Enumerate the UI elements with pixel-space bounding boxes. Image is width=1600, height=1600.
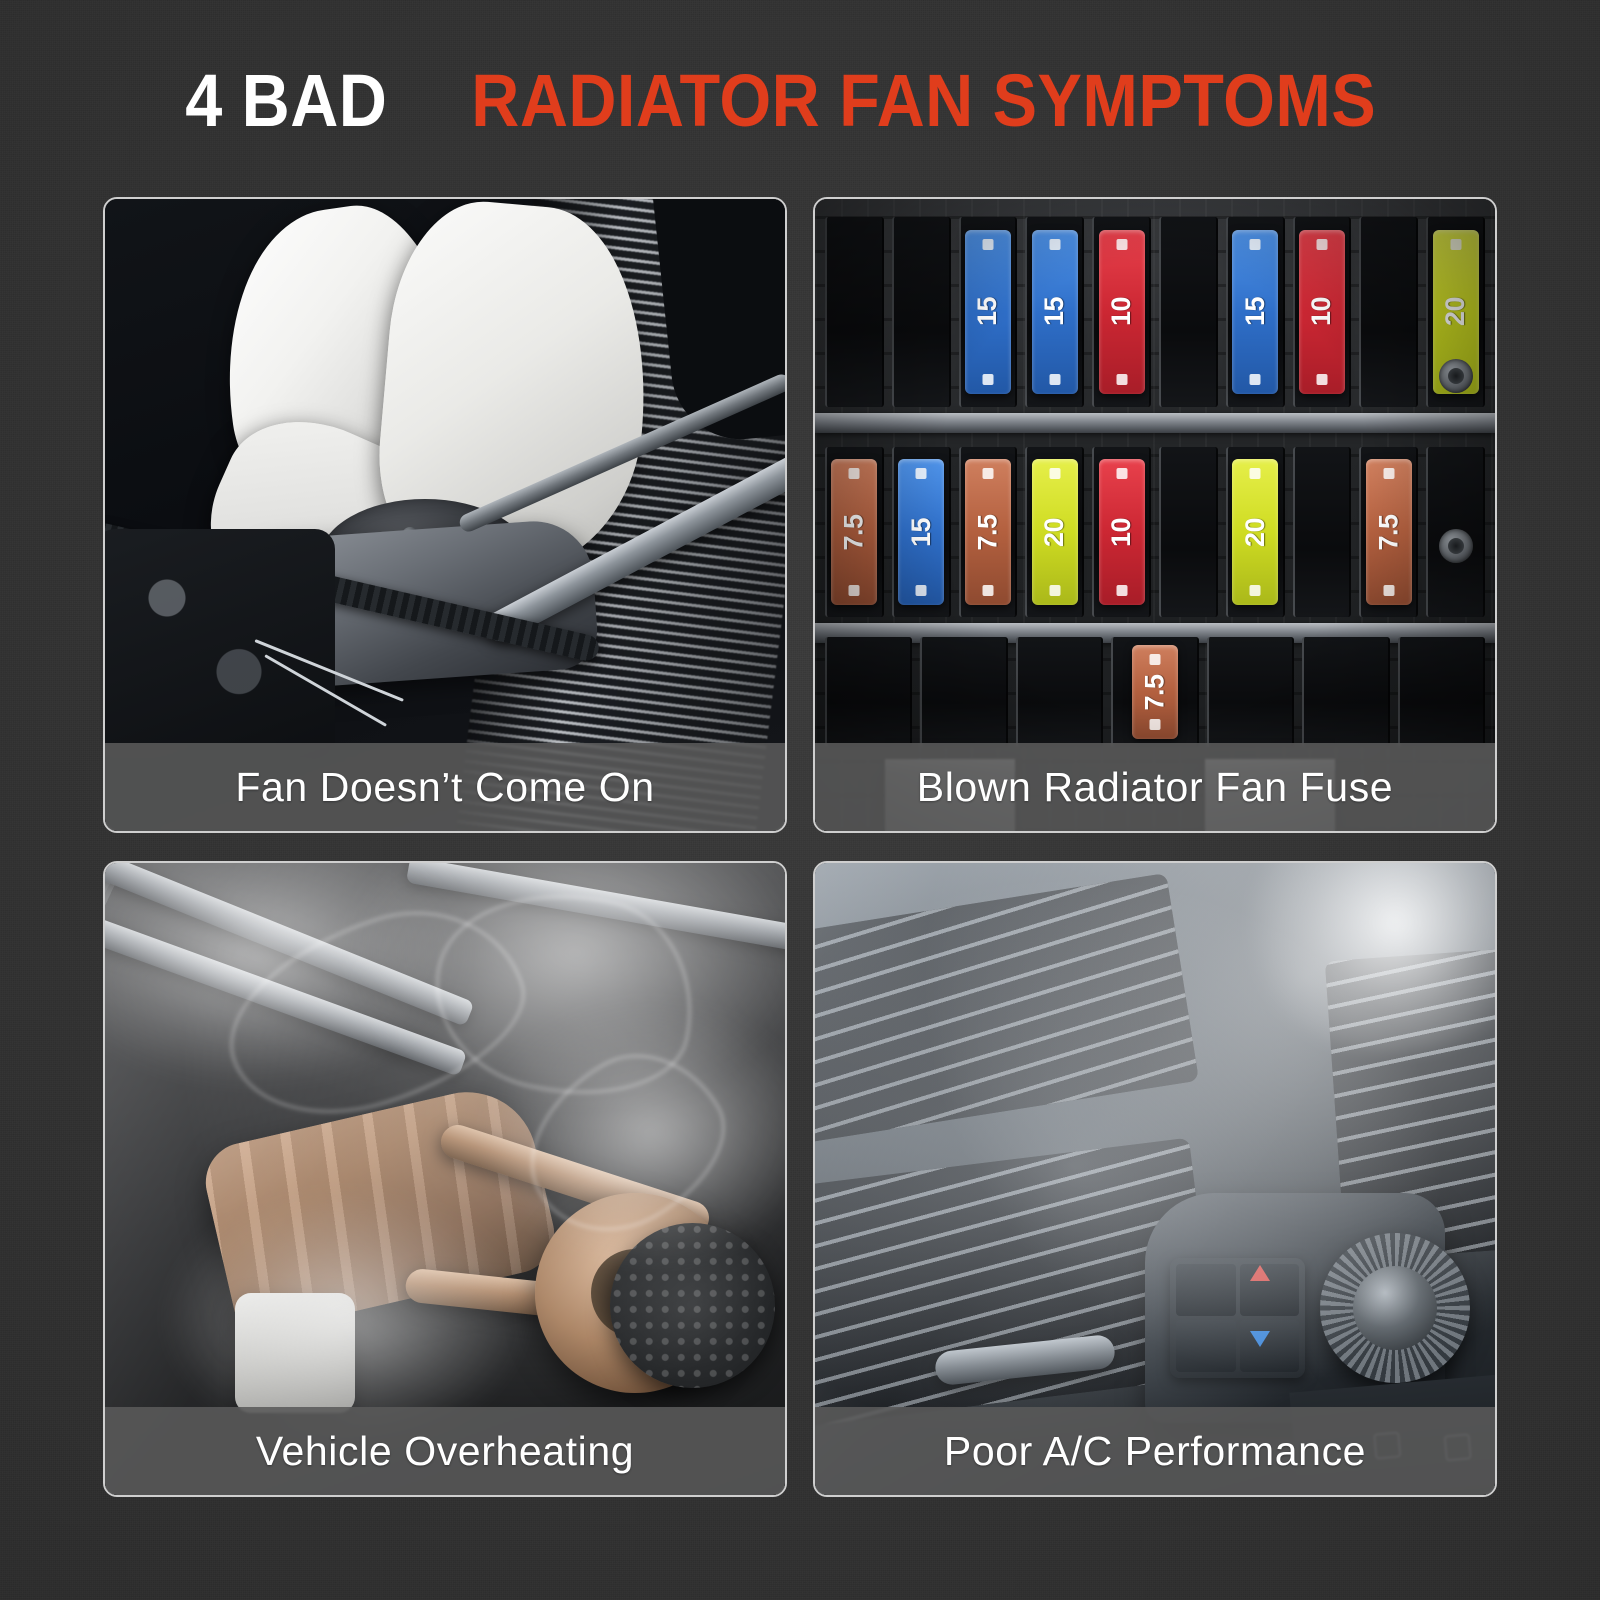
page-title-white-part: 4 BAD xyxy=(185,64,387,138)
radiator-fan-photo xyxy=(105,199,785,831)
card-caption-text: Vehicle Overheating xyxy=(256,1428,634,1475)
card-caption-text: Blown Radiator Fan Fuse xyxy=(917,764,1393,811)
symptom-card-poor-ac-performance[interactable]: Poor A/C Performance xyxy=(813,861,1497,1497)
dashboard-vent-photo xyxy=(815,863,1495,1495)
photo-vignette xyxy=(815,199,1495,831)
card-caption-text: Fan Doesn’t Come On xyxy=(235,764,654,811)
fuse-box-photo: 151510151020 7.5157.52010207.5 7.5 xyxy=(815,199,1495,831)
card-caption: Blown Radiator Fan Fuse xyxy=(815,743,1495,831)
card-caption: Fan Doesn’t Come On xyxy=(105,743,785,831)
symptom-card-fan-doesnt-come-on[interactable]: Fan Doesn’t Come On xyxy=(103,197,787,833)
symptom-card-blown-radiator-fan-fuse[interactable]: 151510151020 7.5157.52010207.5 7.5 Blown… xyxy=(813,197,1497,833)
card-caption-text: Poor A/C Performance xyxy=(944,1428,1366,1475)
card-caption: Poor A/C Performance xyxy=(815,1407,1495,1495)
ac-mist-overlay xyxy=(815,863,1495,1495)
infographic-page: 4 BADRADIATOR FAN SYMPTOMS xyxy=(0,0,1600,1600)
page-title: 4 BADRADIATOR FAN SYMPTOMS xyxy=(0,64,1600,138)
card-caption: Vehicle Overheating xyxy=(105,1407,785,1495)
overheating-engine-photo xyxy=(105,863,785,1495)
engine-bay-components xyxy=(105,529,335,759)
steam-haze-overlay xyxy=(105,863,785,1495)
page-title-accent-part: RADIATOR FAN SYMPTOMS xyxy=(471,64,1376,138)
symptom-card-grid: Fan Doesn’t Come On 151510151020 7.5157.… xyxy=(103,197,1497,1537)
symptom-card-vehicle-overheating[interactable]: Vehicle Overheating xyxy=(103,861,787,1497)
